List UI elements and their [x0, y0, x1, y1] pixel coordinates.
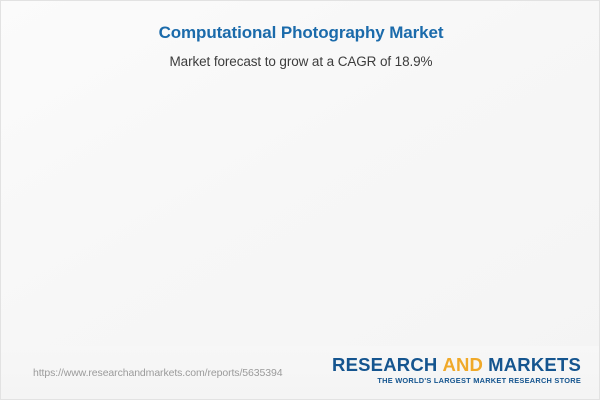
- research-and-markets-logo[interactable]: RESEARCHANDMARKETS THE WORLD'S LARGEST M…: [332, 355, 581, 386]
- logo-wordmark: RESEARCHANDMARKETS: [332, 355, 581, 375]
- logo-word-research: RESEARCH: [332, 354, 437, 375]
- footer: https://www.researchandmarkets.com/repor…: [1, 346, 600, 400]
- logo-word-markets: MARKETS: [488, 354, 581, 375]
- report-url[interactable]: https://www.researchandmarkets.com/repor…: [33, 367, 282, 379]
- logo-word-and: AND: [442, 354, 483, 375]
- plot-area: USD 19.43 Billion 2024 USD 55.01 Billion: [1, 1, 600, 346]
- logo-tagline: THE WORLD'S LARGEST MARKET RESEARCH STOR…: [332, 376, 581, 386]
- chart-image: Computational Photography Market Market …: [0, 0, 600, 400]
